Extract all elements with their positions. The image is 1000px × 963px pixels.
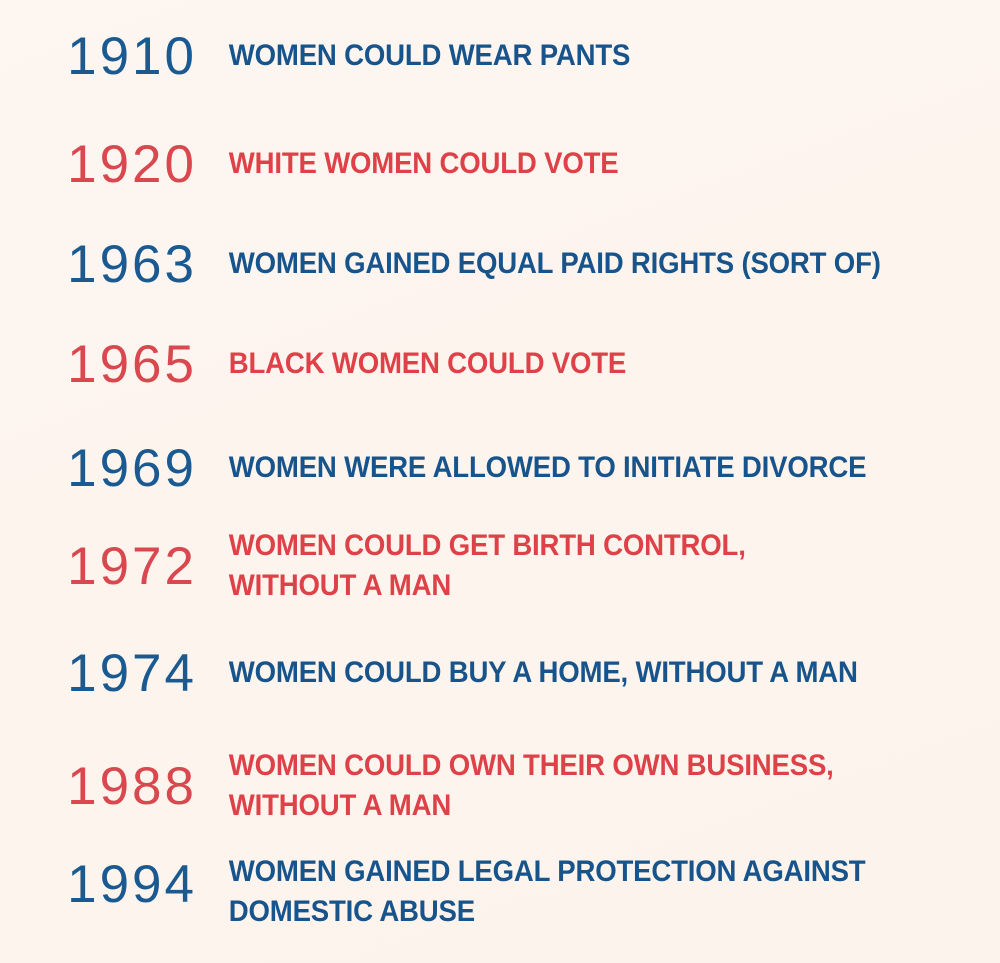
timeline-event: WOMEN COULD WEAR PANTS xyxy=(197,36,948,75)
timeline-year: 1963 xyxy=(0,238,197,291)
timeline-row: 1969 WOMEN WERE ALLOWED TO INITIATE DIVO… xyxy=(0,440,1000,496)
timeline-row: 1910 WOMEN COULD WEAR PANTS xyxy=(0,28,1000,84)
timeline-row: 1988 WOMEN COULD OWN THEIR OWN BUSINESS,… xyxy=(0,738,1000,834)
timeline-event: WOMEN COULD GET BIRTH CONTROL, WITHOUT A… xyxy=(197,526,948,606)
timeline-year: 1994 xyxy=(0,858,197,911)
timeline-row: 1965 BLACK WOMEN COULD VOTE xyxy=(0,336,1000,392)
timeline-list: 1910 WOMEN COULD WEAR PANTS 1920 WHITE W… xyxy=(0,0,1000,963)
timeline-row: 1972 WOMEN COULD GET BIRTH CONTROL, WITH… xyxy=(0,518,1000,614)
timeline-row: 1920 WHITE WOMEN COULD VOTE xyxy=(0,136,1000,192)
timeline-event: BLACK WOMEN COULD VOTE xyxy=(197,344,948,383)
timeline-event: WOMEN COULD OWN THEIR OWN BUSINESS, WITH… xyxy=(197,746,948,826)
timeline-year: 1969 xyxy=(0,442,197,495)
timeline-row: 1994 WOMEN GAINED LEGAL PROTECTION AGAIN… xyxy=(0,852,1000,948)
timeline-year: 1910 xyxy=(0,30,197,83)
timeline-row: 1963 WOMEN GAINED EQUAL PAID RIGHTS (SOR… xyxy=(0,236,1000,292)
timeline-year: 1988 xyxy=(0,760,197,813)
timeline-event: WOMEN GAINED LEGAL PROTECTION AGAINST DO… xyxy=(197,852,948,932)
timeline-event: WHITE WOMEN COULD VOTE xyxy=(197,144,948,183)
timeline-event: WOMEN GAINED EQUAL PAID RIGHTS (SORT OF) xyxy=(197,244,948,283)
timeline-year: 1972 xyxy=(0,540,197,593)
timeline-year: 1974 xyxy=(0,647,197,700)
timeline-year: 1920 xyxy=(0,138,197,191)
timeline-event: WOMEN WERE ALLOWED TO INITIATE DIVORCE xyxy=(197,448,948,487)
timeline-event: WOMEN COULD BUY A HOME, WITHOUT A MAN xyxy=(197,653,948,692)
timeline-row: 1974 WOMEN COULD BUY A HOME, WITHOUT A M… xyxy=(0,645,1000,701)
timeline-year: 1965 xyxy=(0,338,197,391)
